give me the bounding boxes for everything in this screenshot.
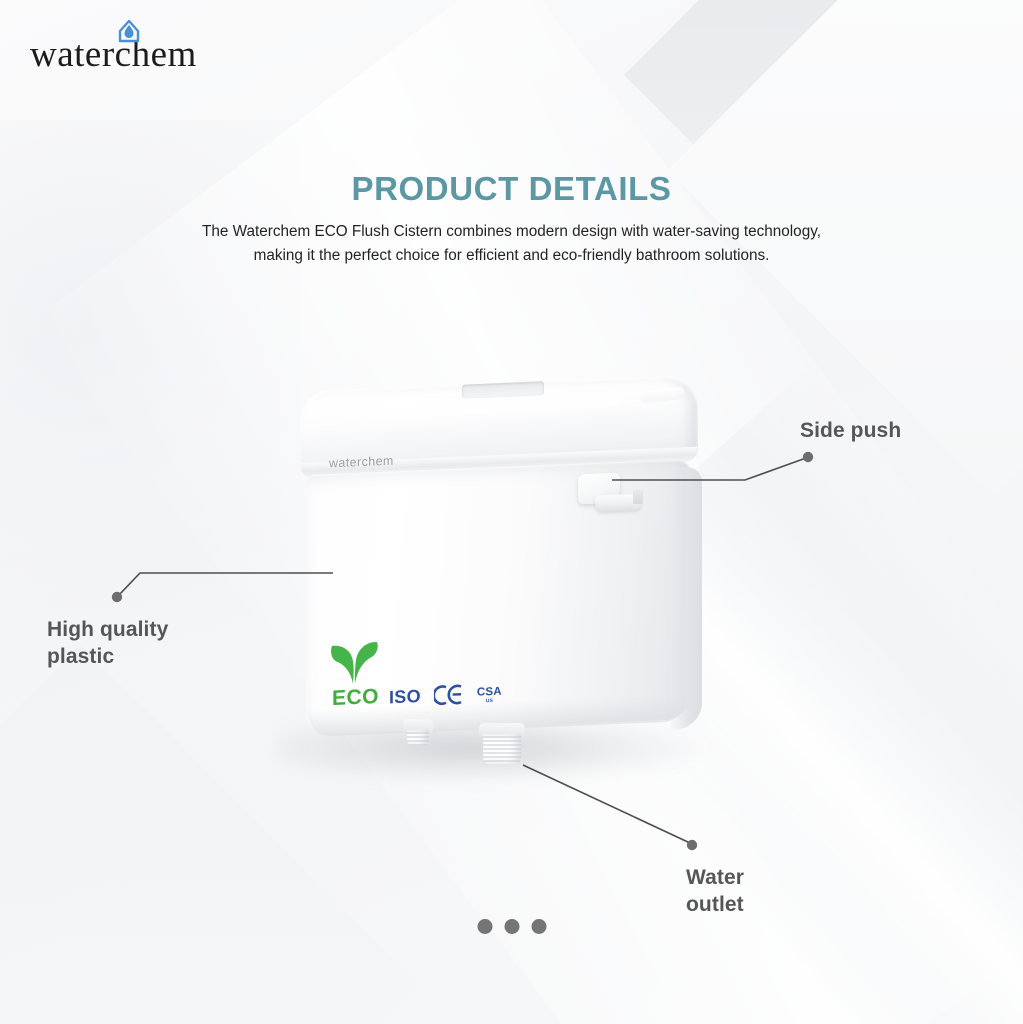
brand-logo-text-before: water <box>30 34 115 75</box>
callout-label-water-outlet: Water outlet <box>686 864 744 918</box>
cistern-body-side-face <box>670 466 702 729</box>
cert-csa-label: CSA <box>477 686 502 699</box>
pagination-dot-2[interactable] <box>504 919 519 934</box>
water-outlet-pipe <box>479 723 525 769</box>
pagination-dot-3[interactable] <box>531 919 546 934</box>
eco-badge: ECO <box>329 640 381 711</box>
page-description-line-1: The Waterchem ECO Flush Cistern combines… <box>202 223 821 240</box>
brand-logo-text: waterc hem <box>30 36 197 73</box>
water-drop-house-icon <box>116 17 142 43</box>
cert-ce-mark <box>434 683 464 706</box>
product-details-slide: waterc hem PRODUCT DETAILS The Waterchem… <box>0 0 1023 1024</box>
pagination-dots[interactable] <box>477 919 546 934</box>
inlet-pipe <box>403 719 433 745</box>
eco-badge-label: ECO <box>332 685 381 711</box>
brand-logo[interactable]: waterc hem <box>30 36 197 82</box>
callout-label-high-quality-plastic: High quality plastic <box>47 616 168 670</box>
inlet-thread <box>407 730 429 746</box>
brand-logo-c-group: c <box>115 36 132 73</box>
cert-csa-mark: CSA US <box>477 686 502 705</box>
lever-nub <box>633 490 643 504</box>
side-push-lever[interactable] <box>578 472 642 519</box>
page-description: The Waterchem ECO Flush Cistern combines… <box>142 220 882 268</box>
product-brand-mark: waterchem <box>329 454 394 471</box>
outlet-thread <box>483 734 521 764</box>
cert-csa-sublabel: US <box>486 699 493 704</box>
ce-icon <box>434 683 464 706</box>
product-image: waterchem ECO ISO CSA <box>297 383 702 783</box>
cert-iso-mark: ISO <box>389 686 421 708</box>
eco-leaves-icon <box>329 640 381 686</box>
callout-label-side-push: Side push <box>800 417 901 444</box>
certification-marks: ISO CSA US <box>389 682 502 709</box>
page-title: PRODUCT DETAILS <box>0 170 1023 208</box>
page-description-line-2: making it the perfect choice for efficie… <box>254 247 770 264</box>
pagination-dot-1[interactable] <box>477 919 492 934</box>
